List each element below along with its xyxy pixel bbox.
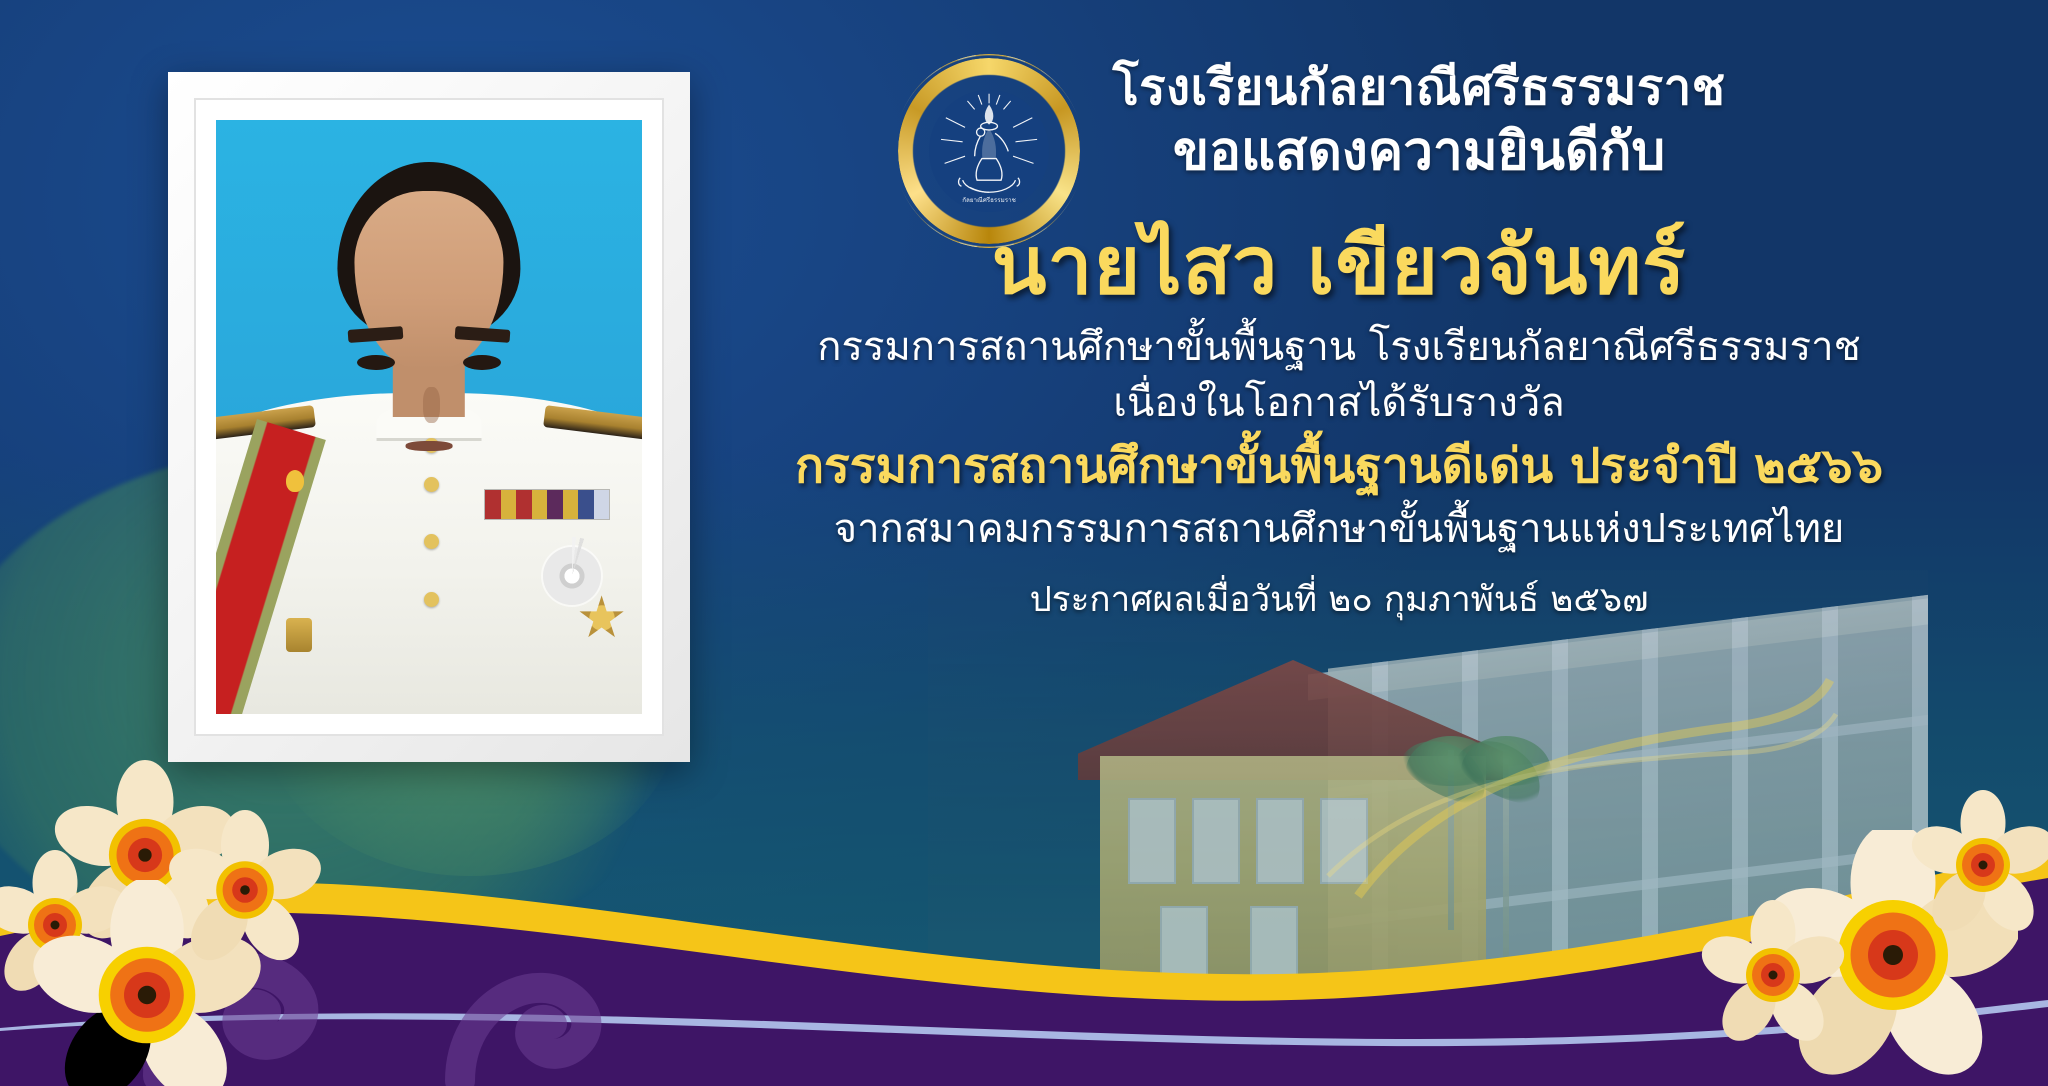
sash-pin [286, 470, 304, 492]
header-row: โรงเรียนกัลยาณีศรีธรรมราช [700, 60, 1978, 116]
purple-spiral-decoration [40, 796, 680, 1086]
congratulation-heading: ขอแสดงความยินดีกับ [700, 120, 1978, 184]
nose [423, 387, 440, 423]
eye-left [357, 355, 395, 370]
text-column: โรงเรียนกัลยาณีศรีธรรมราช ขอแสดงความยินด… [700, 60, 1978, 623]
school-name: โรงเรียนกัลยาณีศรีธรรมราช [1112, 60, 1725, 116]
congratulation-banner: กัลยาณีศรีธรรมราช โรงเรียนกัลยาณีศรีธรรม… [0, 0, 2048, 1086]
medal-ribbon-bar [484, 489, 610, 520]
small-medal [286, 618, 312, 652]
awarding-body: จากสมาคมกรรมการสถานศึกษาขั้นพื้นฐานแห่งป… [700, 502, 1978, 556]
face [354, 191, 503, 369]
honoree-role: กรรมการสถานศึกษาขั้นพื้นฐาน โรงเรียนกัลย… [700, 320, 1978, 374]
occasion-text: เนื่องในโอกาสได้รับรางวัล [700, 376, 1978, 430]
portrait-frame-inner [194, 98, 664, 736]
mouth [406, 441, 453, 452]
epaulette-right [543, 406, 642, 442]
honoree-name: นายไสว เขียวจันทร์ [700, 222, 1978, 310]
portrait-frame [168, 72, 690, 762]
breast-star-medal [543, 547, 601, 605]
eye-right [463, 355, 501, 370]
portrait-photo [216, 120, 642, 714]
announcement-date: ประกาศผลเมื่อวันที่ ๒๐ กุมภาพันธ์ ๒๕๖๗ [700, 578, 1978, 624]
ceremonial-sash [216, 419, 326, 714]
award-title: กรรมการสถานศึกษาขั้นพื้นฐานดีเด่น ประจำป… [700, 436, 1978, 496]
